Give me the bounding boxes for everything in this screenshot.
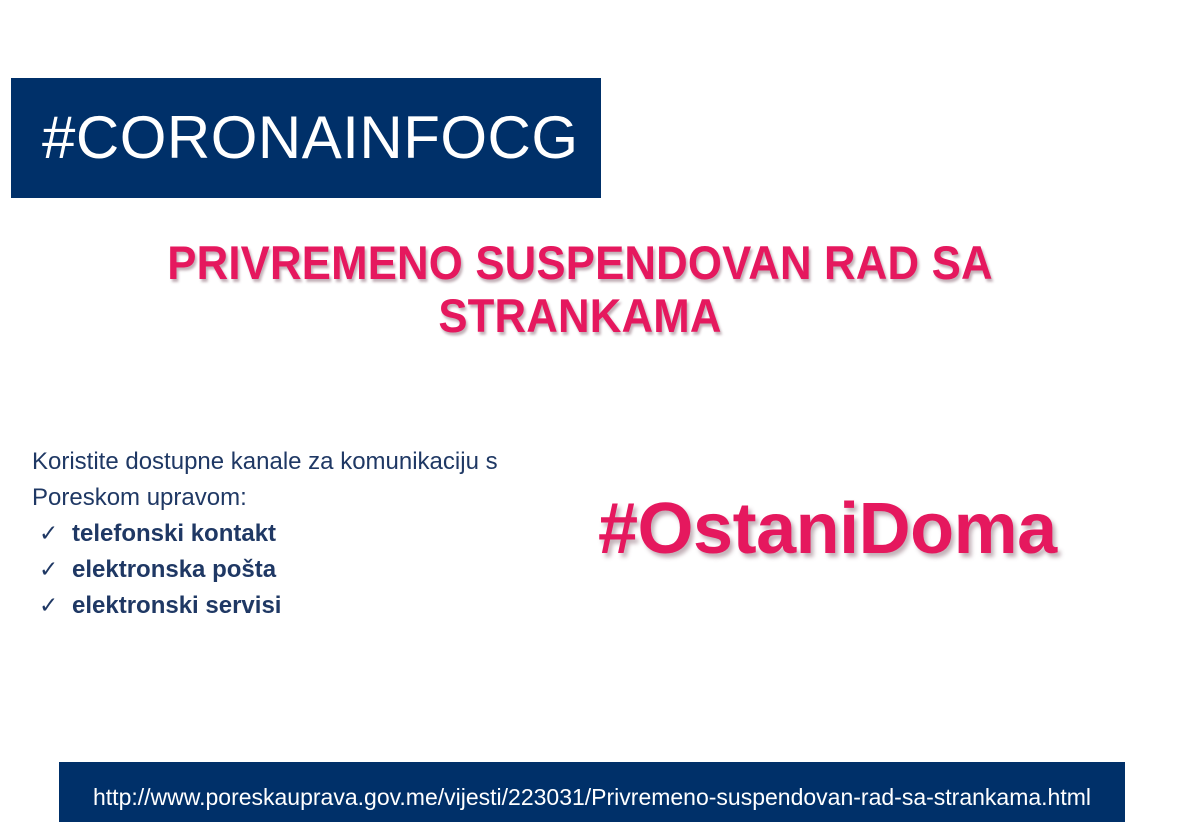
channel-label: telefonski kontakt	[72, 516, 276, 552]
instructions-block: Koristite dostupne kanale za komunikacij…	[32, 444, 592, 624]
instructions-line-1: Koristite dostupne kanale za komunikacij…	[32, 444, 592, 480]
page-title-line-2: STRANKAMA	[96, 289, 1063, 342]
list-item: ✓ telefonski kontakt	[32, 516, 592, 552]
page-title: PRIVREMENO SUSPENDOVAN RAD SA STRANKAMA	[96, 236, 1063, 342]
page-title-line-1: PRIVREMENO SUSPENDOVAN RAD SA	[96, 236, 1063, 289]
source-url-bar: http://www.poreskauprava.gov.me/vijesti/…	[59, 762, 1125, 822]
check-icon: ✓	[32, 516, 72, 552]
list-item: ✓ elektronski servisi	[32, 588, 592, 624]
channel-list: ✓ telefonski kontakt ✓ elektronska pošta…	[32, 516, 592, 624]
slide-canvas: #CORONAINFOCG PRIVREMENO SUSPENDOVAN RAD…	[0, 0, 1200, 800]
instructions-line-2: Poreskom upravom:	[32, 480, 592, 516]
hashtag-banner: #CORONAINFOCG	[11, 78, 601, 198]
channel-label: elektronski servisi	[72, 588, 281, 624]
source-url-link[interactable]: http://www.poreskauprava.gov.me/vijesti/…	[59, 782, 1125, 812]
check-icon: ✓	[32, 552, 72, 588]
list-item: ✓ elektronska pošta	[32, 552, 592, 588]
slogan-hashtag: #OstaniDoma	[598, 487, 1057, 571]
channel-label: elektronska pošta	[72, 552, 276, 588]
check-icon: ✓	[32, 588, 72, 624]
hashtag-banner-label: #CORONAINFOCG	[11, 108, 579, 168]
